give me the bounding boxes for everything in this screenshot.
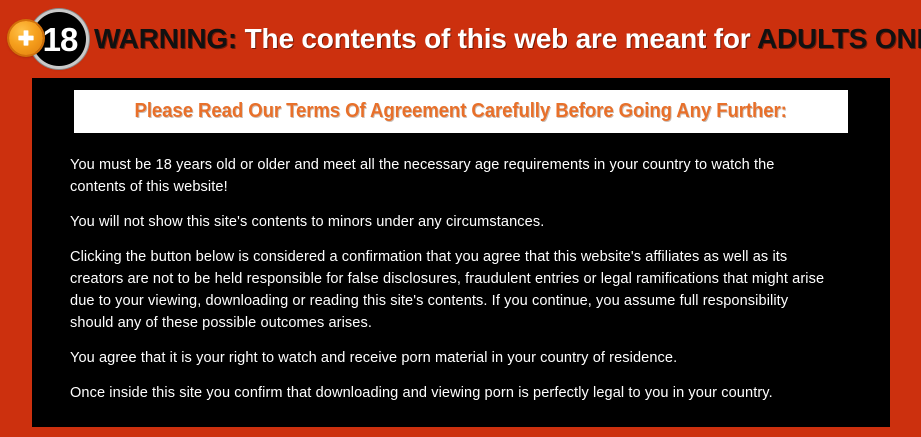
warning-header: 18 WARNING: The contents of this web are… [0, 0, 921, 78]
warning-emphasis-text: ADULTS ONLY! [757, 23, 921, 54]
terms-panel: Please Read Our Terms Of Agreement Caref… [32, 78, 890, 427]
terms-title-bar: Please Read Our Terms Of Agreement Caref… [74, 90, 848, 133]
age-verification-page: 18 WARNING: The contents of this web are… [0, 0, 921, 437]
warning-label: WARNING: [94, 23, 237, 54]
warning-banner-text: WARNING: The contents of this web are me… [94, 25, 921, 53]
plus-icon [9, 21, 43, 55]
terms-text-block: You must be 18 years old or older and me… [70, 154, 856, 404]
age-restriction-badge: 18 [6, 8, 84, 70]
terms-paragraph: You will not show this site's contents t… [70, 211, 832, 233]
terms-paragraph: You agree that it is your right to watch… [70, 347, 832, 369]
warning-middle-text: The contents of this web are meant for [245, 23, 751, 54]
terms-paragraph: Once inside this site you confirm that d… [70, 382, 832, 404]
terms-paragraph: You must be 18 years old or older and me… [70, 154, 832, 198]
terms-paragraph: Clicking the button below is considered … [70, 246, 832, 334]
terms-title: Please Read Our Terms Of Agreement Caref… [135, 100, 787, 123]
